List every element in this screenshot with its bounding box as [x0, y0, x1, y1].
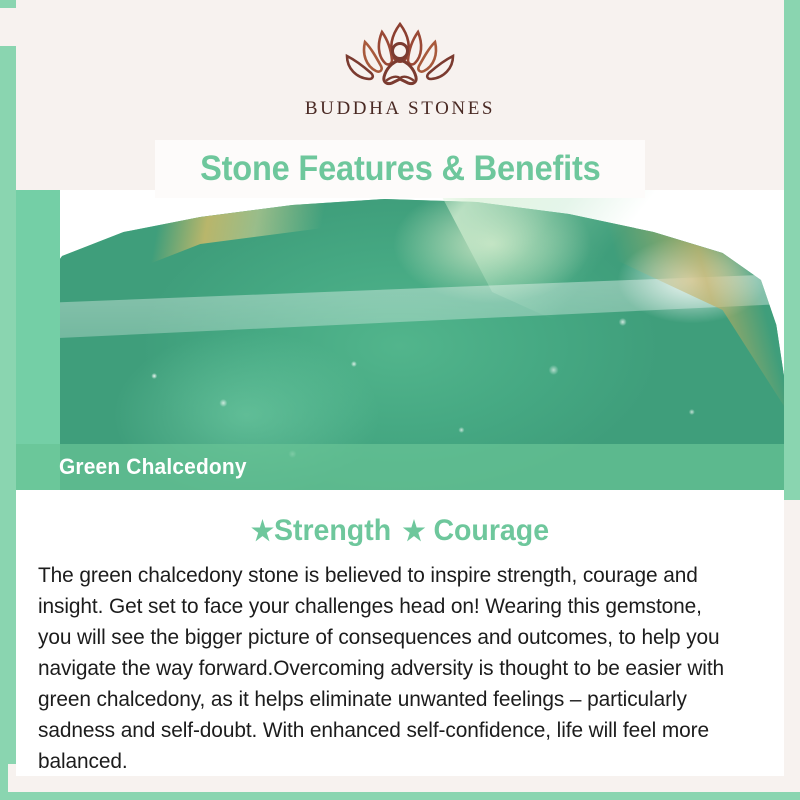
infographic-page: BUDDHA STONES Stone Features & Benefits …	[0, 0, 800, 800]
star-icon-strength: ★	[251, 516, 274, 546]
keyword-headings: ★Strength★ Courage	[56, 514, 744, 548]
brand-name: BUDDHA STONES	[305, 98, 495, 120]
stone-name-banner: Green Chalcedony	[16, 444, 784, 490]
description-section: ★Strength★ Courage The green chalcedony …	[16, 490, 784, 776]
keyword-strength: Strength	[274, 514, 391, 547]
description-text: The green chalcedony stone is believed t…	[38, 560, 740, 777]
keyword-courage: Courage	[433, 514, 549, 547]
content-canvas: BUDDHA STONES Stone Features & Benefits …	[16, 0, 784, 776]
stone-name-label: Green Chalcedony	[59, 454, 247, 480]
stone-photo: Green Chalcedony	[16, 190, 784, 490]
star-icon-courage: ★	[403, 516, 426, 546]
brand-header: BUDDHA STONES	[16, 0, 784, 140]
title-banner: Stone Features & Benefits	[155, 140, 645, 198]
lotus-meditation-icon	[325, 16, 475, 94]
page-title: Stone Features & Benefits	[200, 149, 601, 189]
